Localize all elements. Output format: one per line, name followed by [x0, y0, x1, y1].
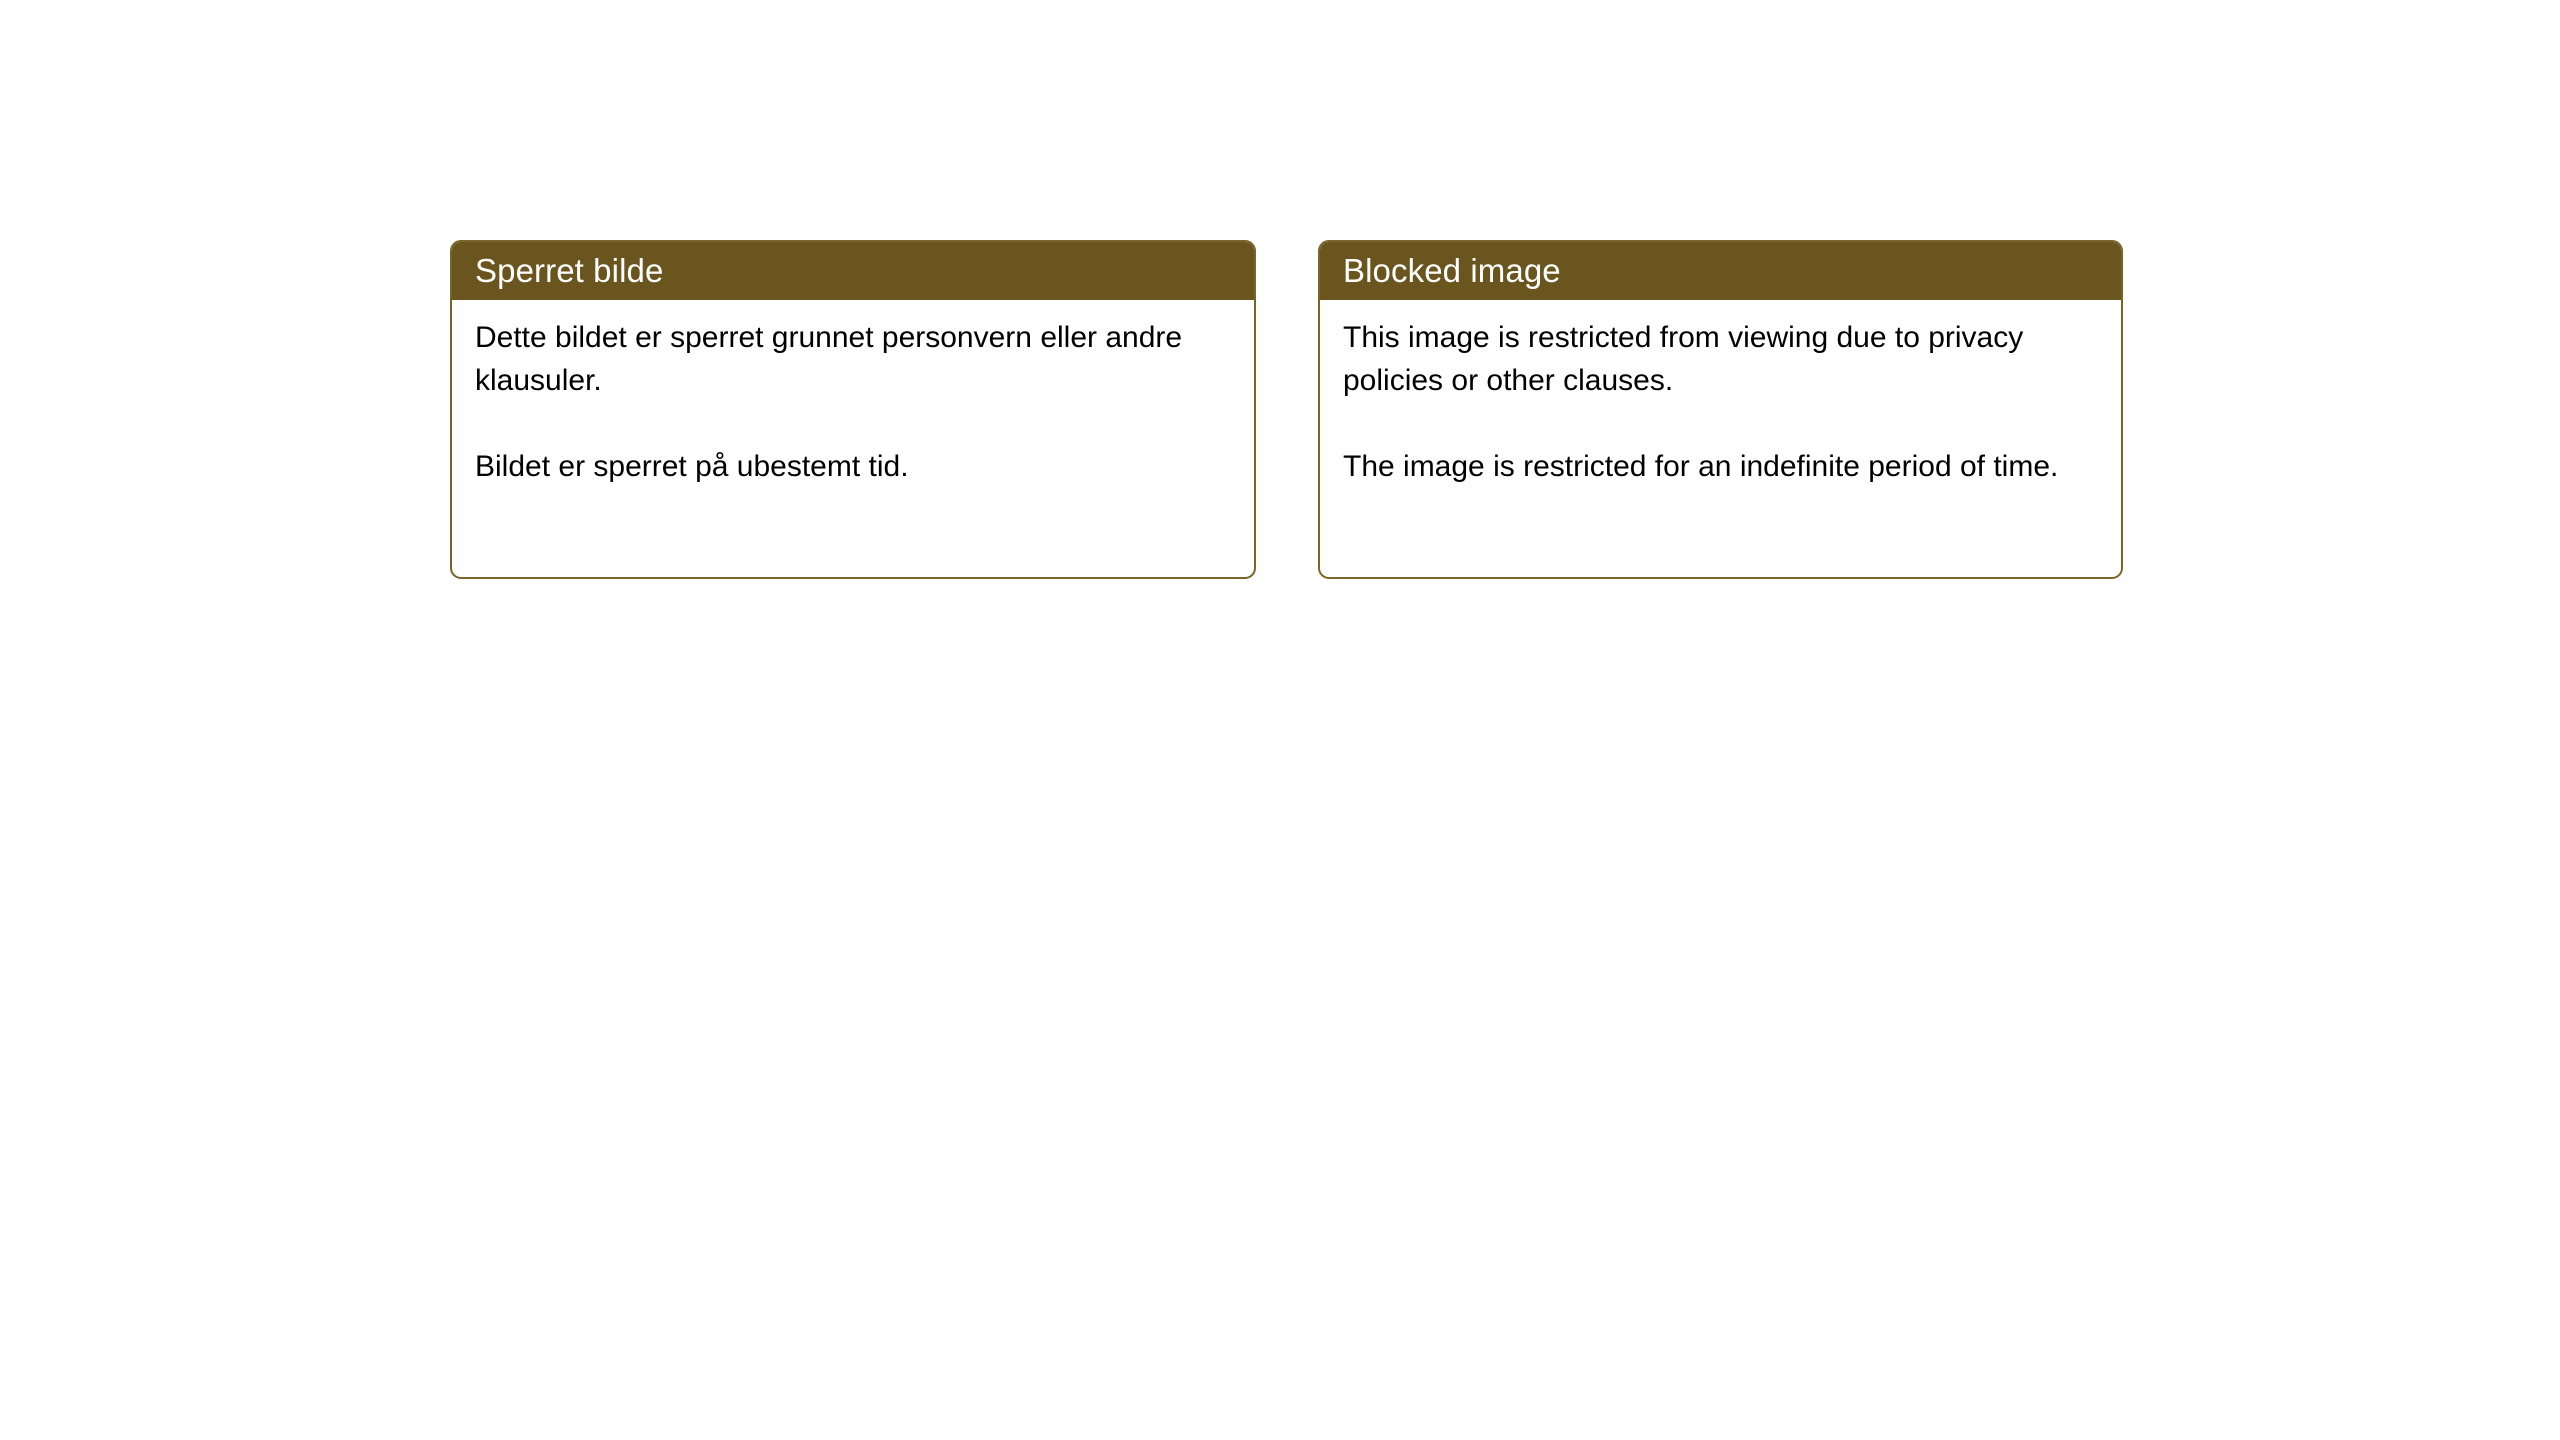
panel-paragraph-primary-norwegian: Dette bildet er sperret grunnet personve…	[475, 316, 1234, 402]
panel-title-english: Blocked image	[1320, 242, 2121, 300]
panel-body-english: This image is restricted from viewing du…	[1320, 300, 2121, 488]
panel-paragraph-secondary-norwegian: Bildet er sperret på ubestemt tid.	[475, 445, 1234, 488]
page-canvas: Sperret bilde Dette bildet er sperret gr…	[0, 0, 2560, 1440]
blocked-image-notice-panel-english: Blocked image This image is restricted f…	[1318, 240, 2123, 579]
panel-body-norwegian: Dette bildet er sperret grunnet personve…	[452, 300, 1254, 488]
panel-paragraph-primary-english: This image is restricted from viewing du…	[1343, 316, 2101, 402]
blocked-image-notice-panel-norwegian: Sperret bilde Dette bildet er sperret gr…	[450, 240, 1256, 579]
panel-paragraph-secondary-english: The image is restricted for an indefinit…	[1343, 445, 2101, 488]
panel-title-norwegian: Sperret bilde	[452, 242, 1254, 300]
